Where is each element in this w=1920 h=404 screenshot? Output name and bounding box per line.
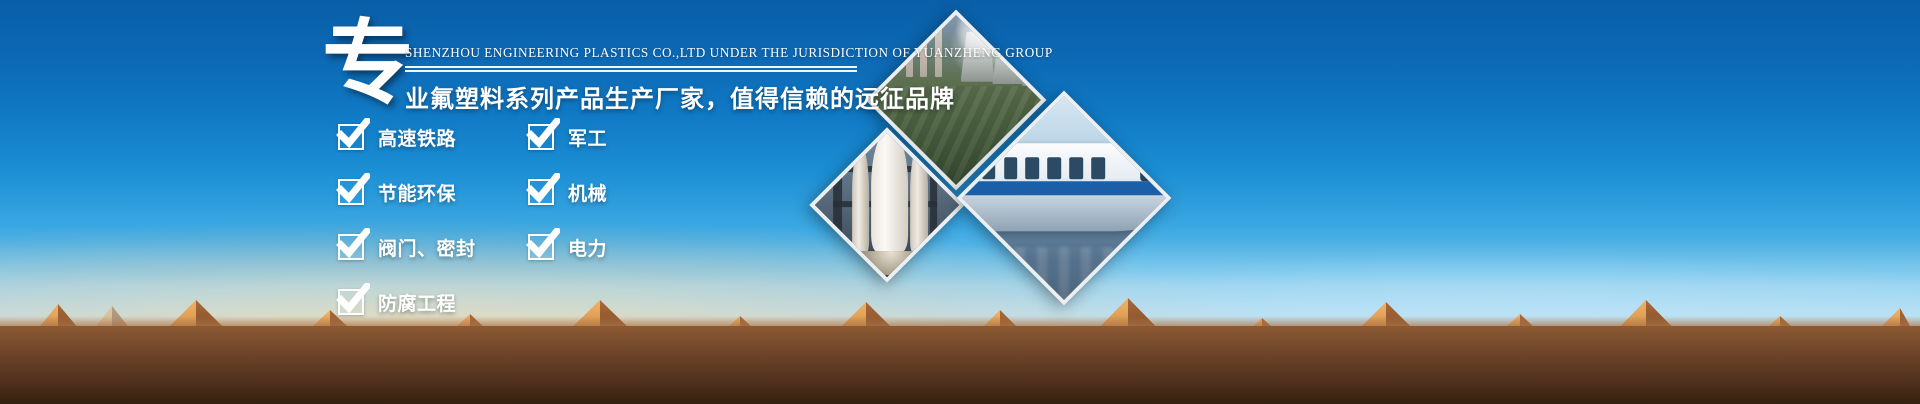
english-tagline: SHENZHOU ENGINEERING PLASTICS CO.,LTD UN… [405, 45, 1053, 61]
checklist-item[interactable]: 军工 [528, 120, 607, 154]
checkbox-checked-icon [528, 124, 554, 150]
checkbox-checked-icon [338, 124, 364, 150]
chinese-tagline: 业氟塑料系列产品生产厂家，值得信赖的远征品牌 [405, 79, 1053, 114]
checklist-item-label: 防腐工程 [378, 289, 456, 316]
checklist-column-left: 高速铁路 节能环保 阀门、密封 [338, 120, 476, 340]
checklist-item-label: 电力 [568, 234, 607, 261]
checklist-item[interactable]: 机械 [528, 175, 607, 209]
checklist-item-label: 高速铁路 [378, 124, 456, 151]
checklist-item[interactable]: 阀门、密封 [338, 230, 476, 264]
checkbox-checked-icon [338, 289, 364, 315]
checklist-column-right: 军工 机械 电力 [528, 120, 607, 285]
checkbox-checked-icon [528, 234, 554, 260]
checklist-item-label: 阀门、密封 [378, 234, 476, 261]
checkbox-checked-icon [338, 179, 364, 205]
checklist-item[interactable]: 电力 [528, 230, 607, 264]
checkbox-checked-icon [528, 179, 554, 205]
checklist-item-label: 节能环保 [378, 179, 456, 206]
title-block: SHENZHOU ENGINEERING PLASTICS CO.,LTD UN… [405, 45, 1053, 114]
promo-banner: 专 SHENZHOU ENGINEERING PLASTICS CO.,LTD … [0, 0, 1920, 404]
checkbox-checked-icon [338, 234, 364, 260]
checklist-item-label: 军工 [568, 124, 607, 151]
checklist-item[interactable]: 高速铁路 [338, 120, 476, 154]
checklist-item-label: 机械 [568, 179, 607, 206]
checklist-item[interactable]: 节能环保 [338, 175, 476, 209]
double-rule-divider [405, 66, 857, 72]
checklist-item[interactable]: 防腐工程 [338, 285, 476, 319]
desert-ground [0, 326, 1920, 404]
